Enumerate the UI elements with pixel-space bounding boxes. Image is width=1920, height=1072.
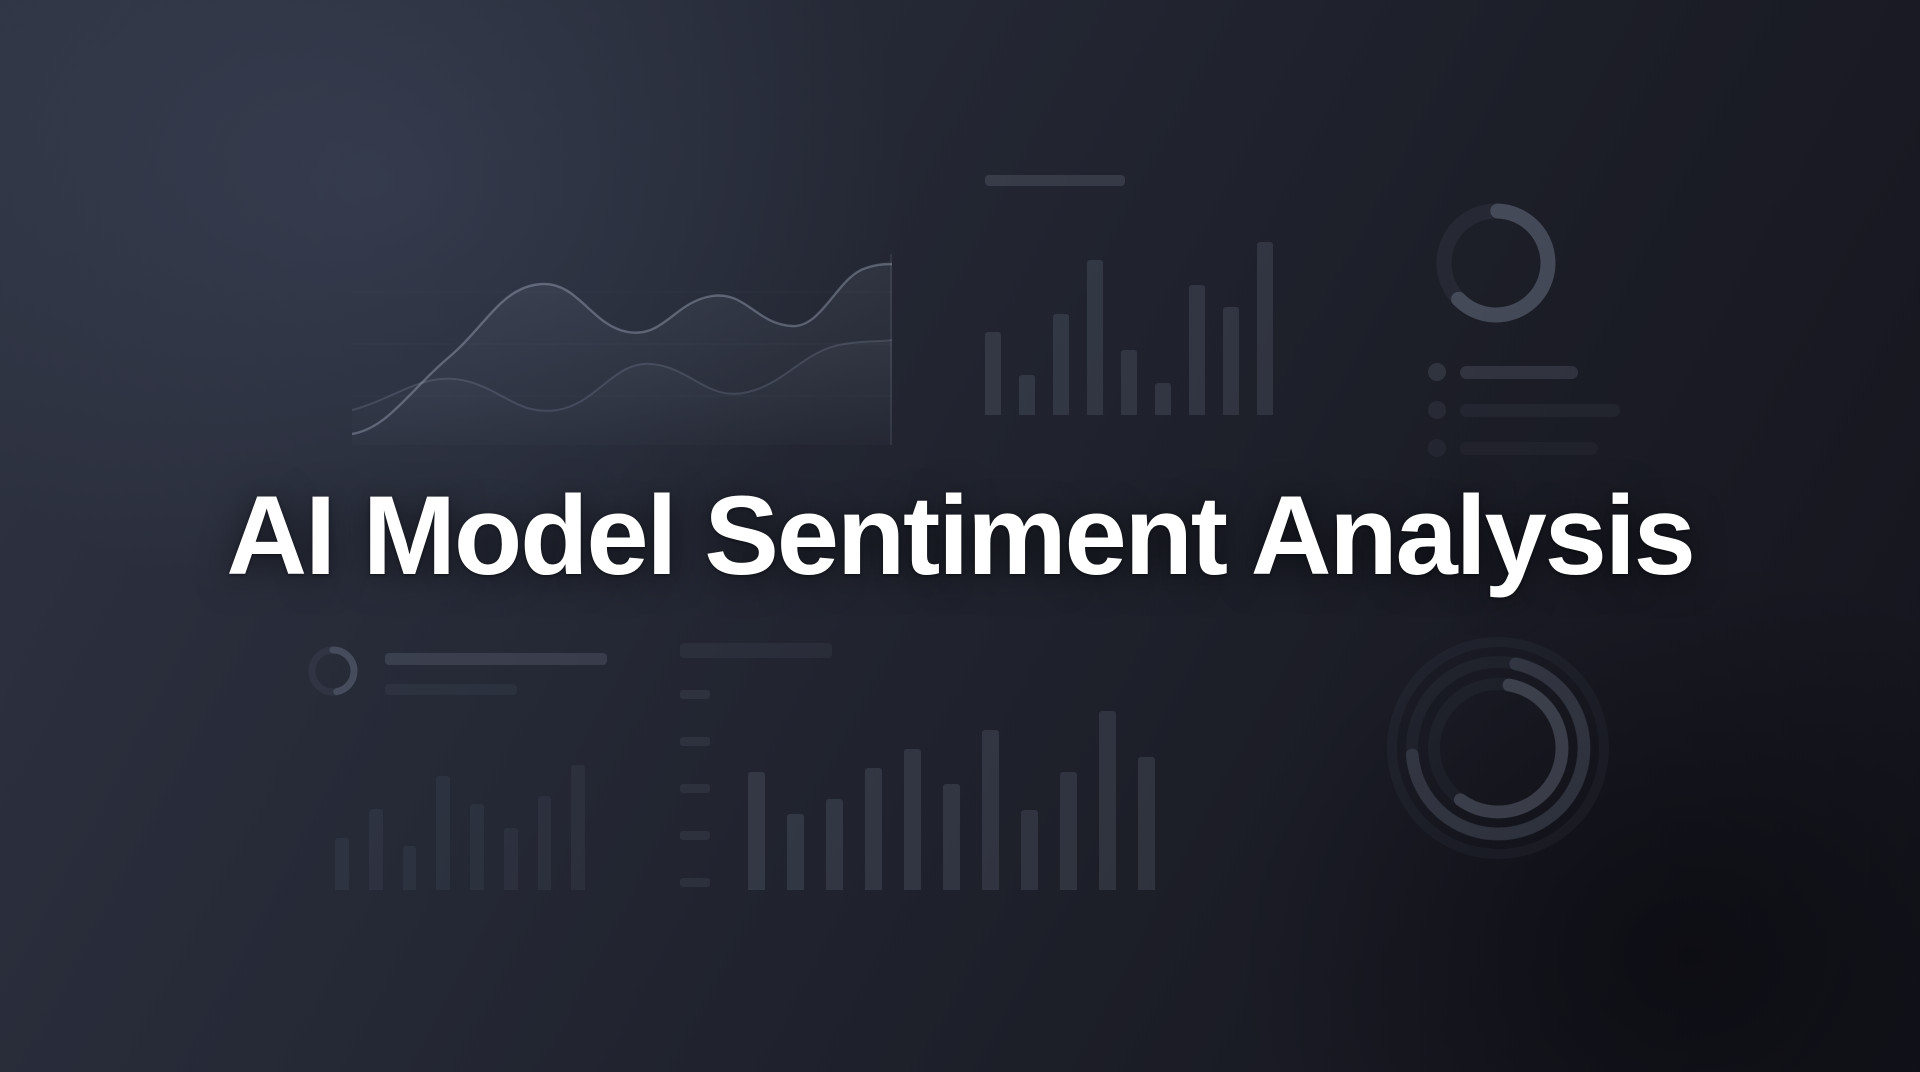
hero-banner: AI Model Sentiment Analysis bbox=[0, 0, 1920, 1072]
page-title: AI Model Sentiment Analysis bbox=[226, 478, 1693, 594]
banner-title-container: AI Model Sentiment Analysis bbox=[0, 0, 1920, 1072]
